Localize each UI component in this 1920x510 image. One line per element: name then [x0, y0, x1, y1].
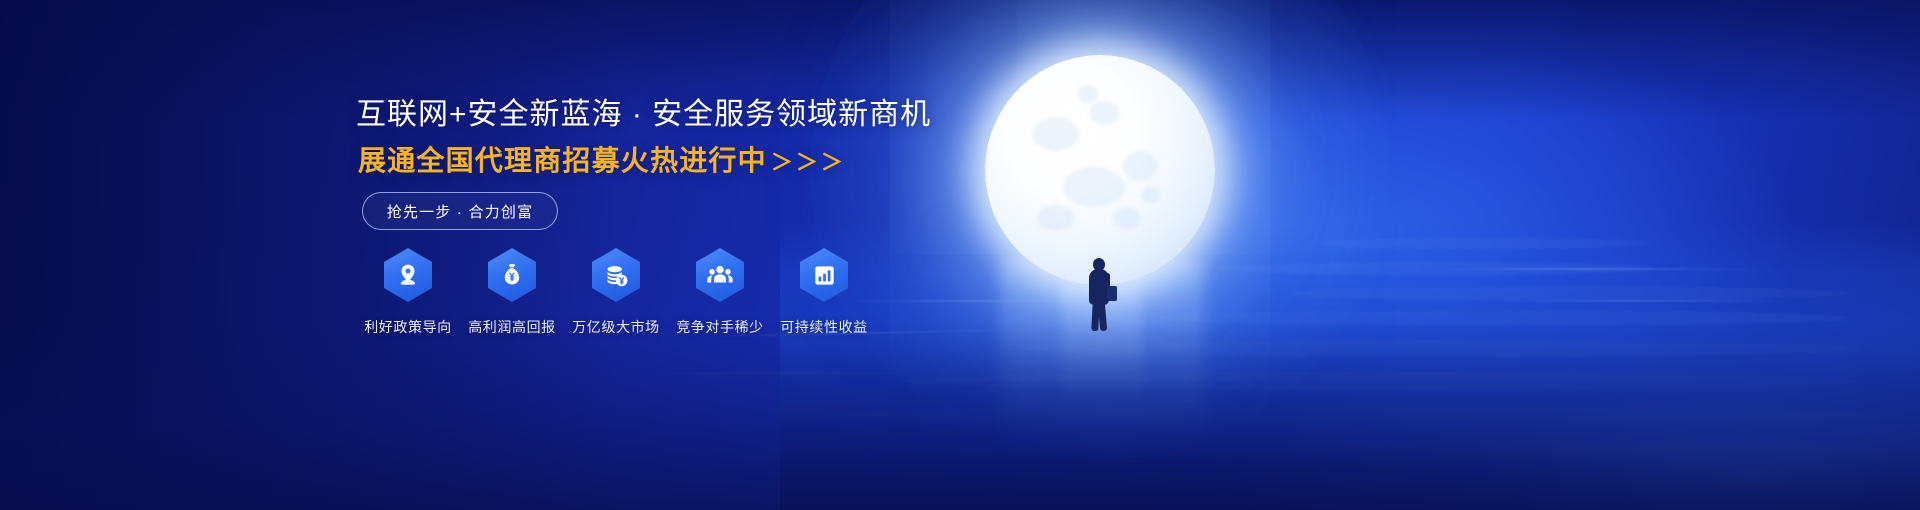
feature-label: 竞争对手稀少: [676, 317, 764, 337]
water-ripple: [1290, 286, 1850, 301]
slogan-pill-button[interactable]: 抢先一步 · 合力创富: [362, 192, 558, 230]
people-group-icon: [696, 248, 744, 302]
banner-content: 互联网+安全新蓝海 · 安全服务领域新商机 展通全国代理商招募火热进行中 ＞＞＞…: [356, 0, 976, 510]
feature-label: 利好政策导向: [364, 317, 452, 337]
promo-banner: 互联网+安全新蓝海 · 安全服务领域新商机 展通全国代理商招募火热进行中 ＞＞＞…: [0, 0, 1920, 510]
feature-label: 高利润高回报: [468, 317, 556, 337]
feature-label: 万亿级大市场: [572, 317, 660, 337]
banner-subheadline: 展通全国代理商招募火热进行中: [358, 144, 767, 178]
money-bag-yuan-icon: [488, 248, 536, 302]
location-pin-icon: [384, 248, 432, 302]
arrow-right-icon: ＞＞＞: [771, 146, 846, 180]
feature-item-sustainable[interactable]: 可持续性收益: [772, 248, 876, 337]
moon-icon: [985, 55, 1215, 285]
banner-headline: 互联网+安全新蓝海 · 安全服务领域新商机: [356, 98, 931, 132]
coin-stack-yuan-icon: [592, 248, 640, 302]
feature-label: 可持续性收益: [780, 317, 868, 337]
water-streak: [1500, 300, 1800, 302]
feature-item-profit[interactable]: 高利润高回报: [460, 248, 564, 337]
banner-subheadline-row: 展通全国代理商招募火热进行中 ＞＞＞: [358, 144, 846, 180]
water-streak: [1430, 268, 1760, 270]
feature-item-policy[interactable]: 利好政策导向: [356, 248, 460, 337]
feature-list: 利好政策导向 高利润高回报: [356, 248, 876, 337]
slogan-pill-label: 抢先一步 · 合力创富: [387, 201, 534, 222]
feature-item-market[interactable]: 万亿级大市场: [564, 248, 668, 337]
feature-item-competition[interactable]: 竞争对手稀少: [668, 248, 772, 337]
moon-craters: [985, 55, 1215, 285]
moon-disc: [985, 55, 1215, 285]
bar-chart-growth-icon: [800, 248, 848, 302]
